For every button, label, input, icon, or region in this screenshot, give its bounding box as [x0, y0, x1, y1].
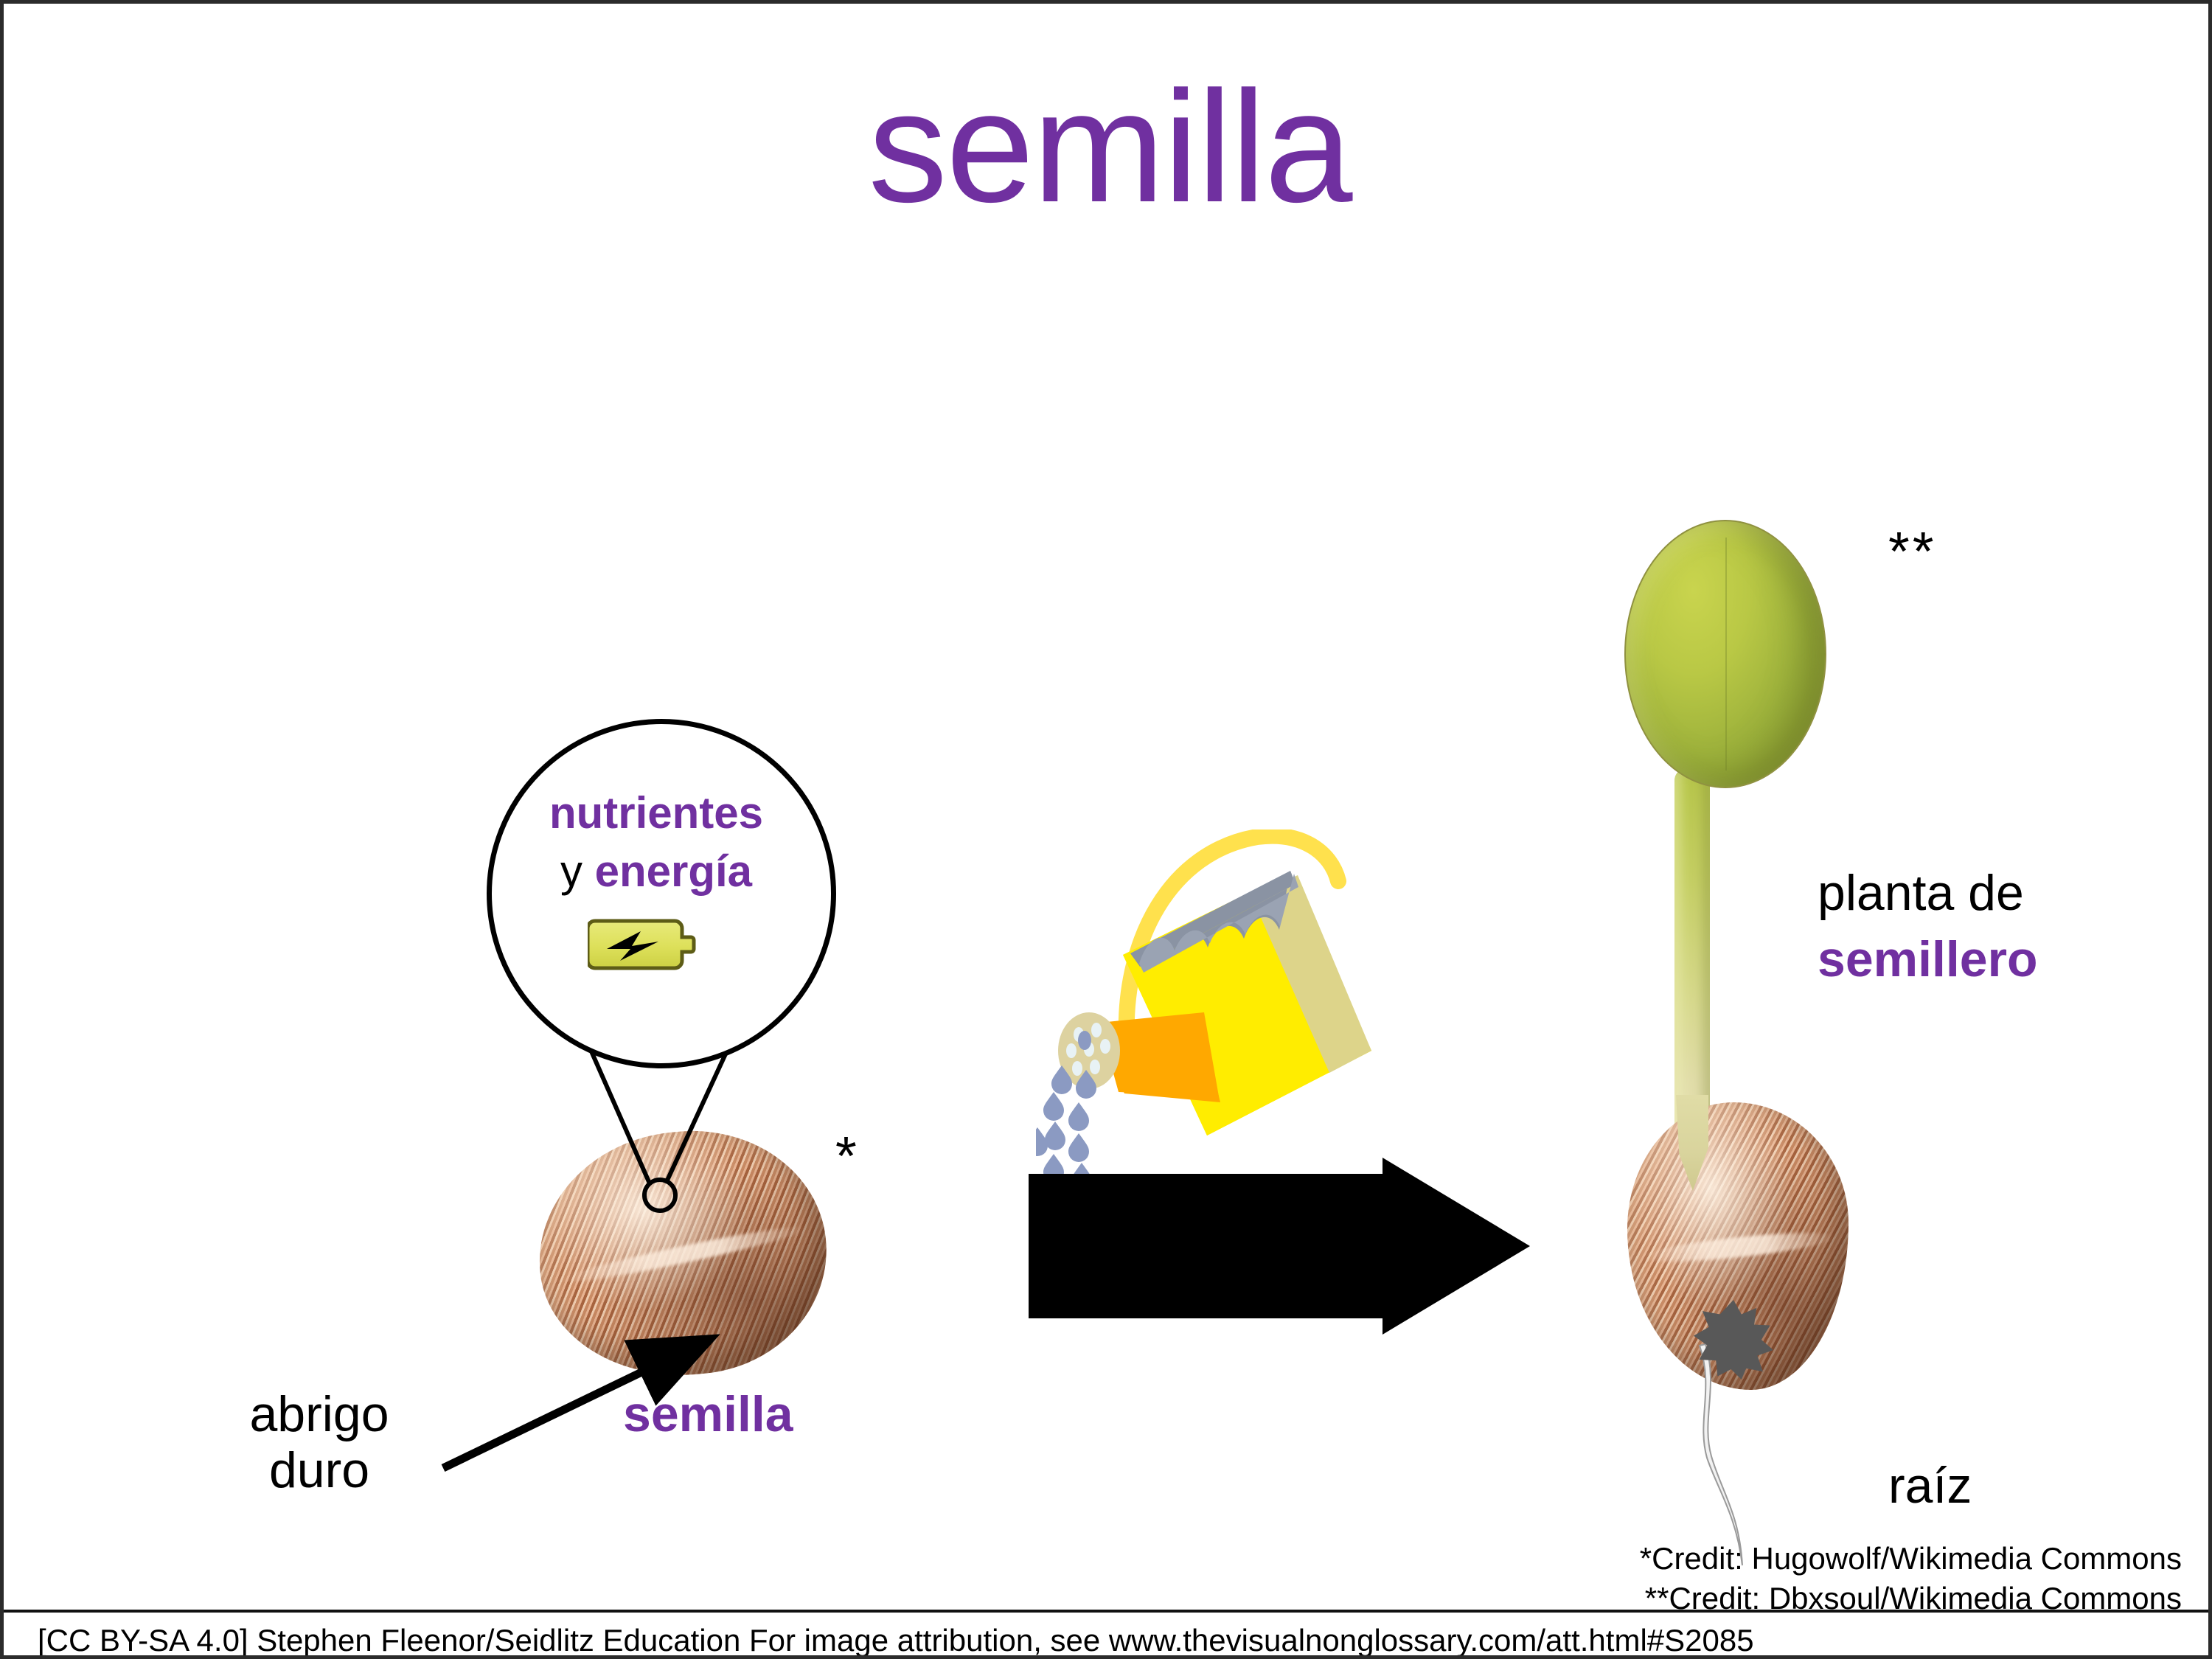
- cotyledon-leaf: [1624, 520, 1826, 788]
- process-arrow-icon: [1029, 1158, 1530, 1335]
- callout-conjunction: y: [560, 846, 582, 896]
- root-shape: [1685, 1331, 1847, 1574]
- callout-line-1: nutrientes: [487, 784, 826, 842]
- seedling-stem: [1674, 771, 1710, 1139]
- seed-coat-label: abrigo duro: [216, 1386, 422, 1498]
- plant-label-line2: semillero: [1818, 931, 2038, 987]
- asterisk-marker-left: *: [835, 1124, 857, 1187]
- leaf-vein: [1725, 538, 1727, 771]
- plant-label-line1: planta de: [1818, 865, 2024, 921]
- page-title: semilla: [4, 67, 2212, 226]
- asterisk-marker-right: **: [1888, 520, 1937, 582]
- callout-word-energia: energía: [595, 846, 752, 896]
- seed-coat-label-line1: abrigo: [216, 1386, 422, 1442]
- seed-coat-pointer-arrow: [431, 1324, 741, 1486]
- battery-icon: [588, 915, 698, 973]
- watering-can-icon: [1036, 829, 1464, 1198]
- footer-attribution-text: [CC BY-SA 4.0] Stephen Fleenor/Seidlitz …: [38, 1623, 1754, 1658]
- seed-coat-label-line2: duro: [216, 1442, 422, 1498]
- root-label: raíz: [1888, 1458, 1972, 1514]
- slide-canvas: semilla nutrientes y energía *: [0, 0, 2212, 1659]
- callout-text: nutrientes y energía: [487, 784, 826, 900]
- callout-line-2: y energía: [487, 842, 826, 900]
- magnified-point-circle: [642, 1178, 678, 1213]
